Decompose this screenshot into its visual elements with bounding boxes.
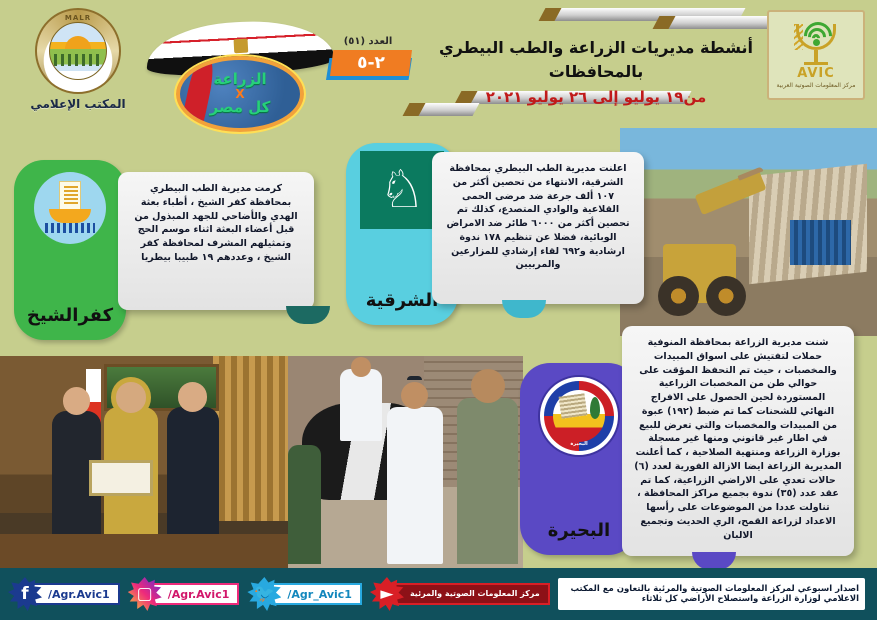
- social-link-twitter[interactable]: 🐦 /Agr_Avic1: [247, 579, 362, 609]
- book-icon: [559, 393, 588, 418]
- page-subtitle-dates: من١٩ يوليو إلى ٢٦ يوليو ٢٠٢١: [416, 88, 776, 106]
- signal-source-dot: [813, 39, 820, 46]
- papyrus-scroll-icon: [59, 181, 81, 211]
- title-plate: أنشطة مديريات الزراعة والطب البيطري بالم…: [416, 6, 776, 118]
- twitter-handle[interactable]: /Agr_Avic1: [271, 583, 362, 605]
- loader-wheel-front: [658, 276, 698, 316]
- sharqia-text-bubble: اعلنت مديرية الطب البيطري بمحافظة الشرقي…: [432, 152, 644, 304]
- person-left-head: [63, 387, 90, 414]
- infographic-page: MALR المكتب الإعلامي الزراعة X كل مصر ال…: [0, 0, 877, 620]
- kafr-el-sheikh-body: كرمت مديرية الطب البيطري بمحافظة كفر الش…: [130, 182, 302, 265]
- social-link-instagram[interactable]: ▢ /Agr.Avic1: [128, 579, 240, 609]
- avic-broadcast-icon: [788, 22, 844, 66]
- avic-base-shape: [804, 62, 828, 65]
- facebook-handle[interactable]: /Agr.Avic1: [32, 583, 120, 605]
- loader-arm: [695, 170, 766, 215]
- person-right-head: [178, 382, 207, 411]
- globe-line1: الزراعة: [213, 72, 266, 88]
- ministry-seal-icon: MALR: [35, 8, 121, 94]
- horse-glyph-icon: ♘: [379, 164, 426, 216]
- kafr-el-sheikh-pill: كفرالشيخ: [14, 160, 126, 340]
- kafr-el-sheikh-text-bubble: كرمت مديرية الطب البيطري بمحافظة كفر الش…: [118, 172, 314, 310]
- beheira-name: البحيرة: [520, 520, 638, 541]
- beheira-body: شنت مديرية الزراعة بمحافظة المنوفية حملا…: [634, 336, 842, 542]
- bystander-person: [288, 445, 321, 564]
- social-link-youtube[interactable]: ► مركز المعلومات الصوتية والمرئية: [370, 579, 550, 609]
- avic-logo: AVIC مركز المعلومات الصوتية العربية: [767, 10, 865, 100]
- footer-bar: f /Agr.Avic1 ▢ /Agr.Avic1 🐦 /Agr_Avic1 ►…: [0, 568, 877, 620]
- demolition-photo: [620, 128, 877, 336]
- globe-line2: كل مصر: [210, 100, 271, 116]
- beheira-text-bubble: شنت مديرية الزراعة بمحافظة المنوفية حملا…: [622, 326, 854, 556]
- beheira-crest-emblem-icon: البحيرة: [538, 375, 620, 457]
- vet-cap-icon: [407, 376, 422, 380]
- media-office-label: المكتب الإعلامي: [30, 97, 125, 111]
- farmer-person: [457, 398, 518, 563]
- kafr-el-sheikh-name: كفرالشيخ: [14, 305, 126, 326]
- office-desk: [0, 534, 288, 568]
- seal-inner-emblem: [49, 22, 107, 80]
- award-ceremony-photo: [0, 356, 288, 568]
- person-center-head: [116, 382, 147, 413]
- water-waves-icon: [45, 223, 95, 233]
- title-ribbon-2: [653, 16, 780, 29]
- award-photo-scene: [0, 356, 288, 568]
- person-right: [167, 407, 219, 543]
- certificate-icon: [89, 460, 152, 496]
- crest-tag: البحيرة: [570, 441, 587, 447]
- youtube-handle[interactable]: مركز المعلومات الصوتية والمرئية: [394, 583, 550, 605]
- page-title: أنشطة مديريات الزراعة والطب البيطري بالم…: [416, 36, 776, 84]
- loader-wheel-rear: [706, 276, 746, 316]
- veterinarian: [387, 407, 443, 564]
- issue-number: ٢-٥: [330, 50, 412, 76]
- instagram-handle[interactable]: /Agr.Avic1: [152, 583, 240, 605]
- bubble-tail: [502, 300, 546, 318]
- issue-label: العدد (٥١): [318, 36, 418, 47]
- vaccination-photo: [288, 356, 523, 568]
- vaccination-photo-scene: [288, 356, 523, 568]
- egypt-flag-badge: الزراعة X كل مصر: [146, 16, 336, 116]
- seal-ring-text: MALR: [65, 14, 91, 22]
- demolition-photo-scene: [620, 128, 877, 336]
- vet-background-head: [351, 357, 371, 377]
- avic-subtitle: مركز المعلومات الصوتية العربية: [777, 82, 856, 89]
- boat-icon: [49, 209, 91, 223]
- sharqia-body: اعلنت مديرية الطب البيطري بمحافظة الشرقي…: [444, 162, 632, 272]
- wheat-leaf-icon: [590, 397, 600, 419]
- avic-name: AVIC: [797, 66, 835, 81]
- social-link-facebook[interactable]: f /Agr.Avic1: [8, 579, 120, 609]
- issue-badge: ٢-٥: [324, 50, 412, 82]
- issue-block: العدد (٥١) ٢-٥: [318, 36, 418, 82]
- farmer-head: [471, 369, 505, 403]
- loader-bucket: [737, 167, 763, 182]
- beheira-pill: البحيرة البحيرة: [520, 363, 638, 555]
- ministry-logo: MALR المكتب الإعلامي: [22, 8, 134, 116]
- papyrus-boat-emblem-icon: [34, 172, 106, 244]
- bubble-tail: [286, 306, 330, 324]
- footer-disclaimer: اصدار اسبوعي لمركز المعلومات الصوتية وال…: [558, 578, 865, 610]
- vet-background-person: [340, 369, 382, 441]
- bulldozer-icon: [656, 182, 774, 311]
- curtain-backdrop: [213, 356, 288, 521]
- agriculture-globe-badge: الزراعة X كل مصر: [176, 56, 304, 132]
